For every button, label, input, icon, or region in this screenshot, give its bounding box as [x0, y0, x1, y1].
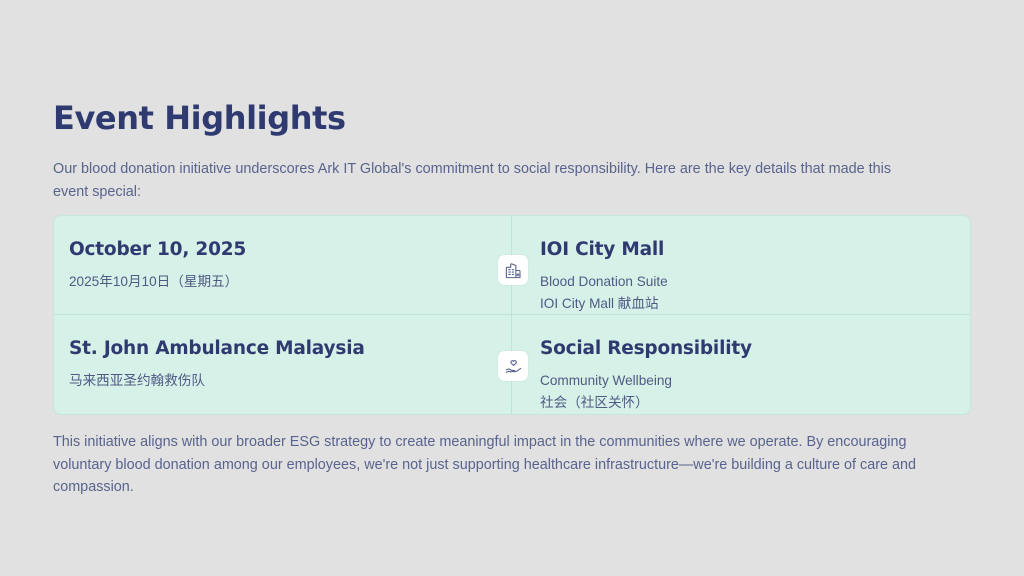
highlight-cell-partner: St. John Ambulance Malaysia 马来西亚圣约翰救伤队 — [54, 315, 512, 414]
hand-holding-heart-icon — [498, 351, 528, 381]
highlight-title: Social Responsibility — [540, 337, 944, 361]
highlight-title: IOI City Mall — [540, 238, 944, 262]
highlight-title: St. John Ambulance Malaysia — [69, 337, 485, 361]
highlight-cell-theme: Social Responsibility Community Wellbein… — [512, 315, 970, 414]
highlight-subtitle: Community Wellbeing — [540, 370, 944, 392]
intro-paragraph: Our blood donation initiative underscore… — [53, 158, 928, 203]
outro-paragraph: This initiative aligns with our broader … — [53, 431, 963, 499]
event-highlights-grid: October 10, 2025 2025年10月10日（星期五） IOI Ci… — [53, 215, 971, 415]
hospital-building-icon — [498, 255, 528, 285]
highlight-subtitle: 2025年10月10日（星期五） — [69, 271, 485, 293]
highlight-subtitle-cn: IOI City Mall 献血站 — [540, 293, 944, 315]
content-page: Event Highlights Our blood donation init… — [53, 0, 971, 576]
highlight-title: October 10, 2025 — [69, 238, 485, 262]
page-title: Event Highlights — [53, 99, 346, 137]
highlight-subtitle: 马来西亚圣约翰救伤队 — [69, 370, 485, 392]
highlight-cell-venue: IOI City Mall Blood Donation Suite IOI C… — [512, 216, 970, 315]
highlight-subtitle: Blood Donation Suite — [540, 271, 944, 293]
highlight-subtitle-cn: 社会（社区关怀） — [540, 392, 944, 414]
highlight-cell-date: October 10, 2025 2025年10月10日（星期五） — [54, 216, 512, 315]
